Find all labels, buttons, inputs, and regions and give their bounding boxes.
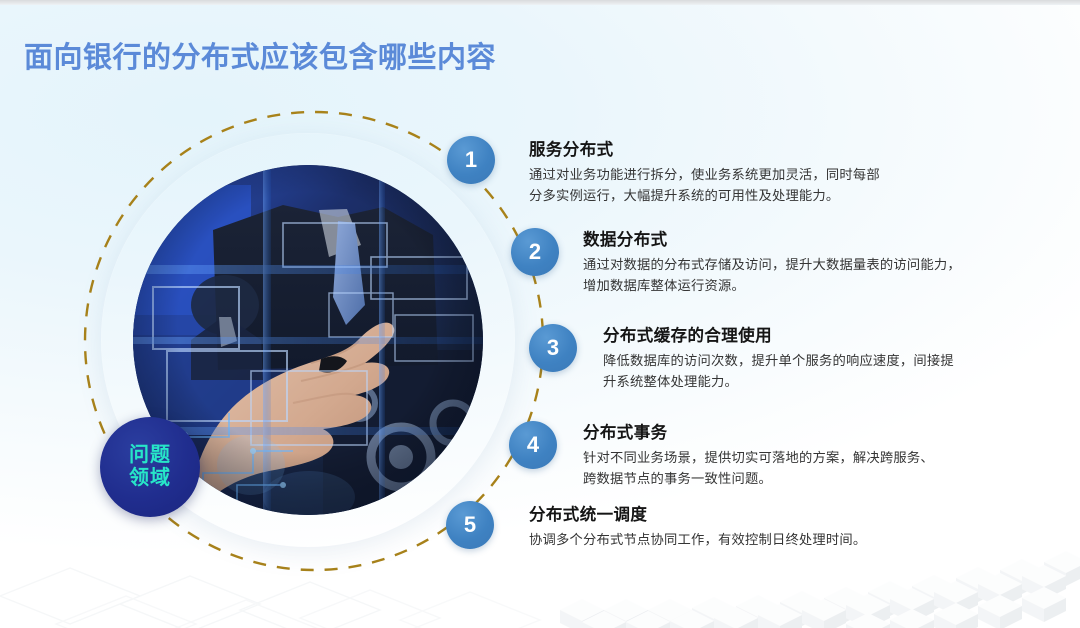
badge-line-1: 问题 bbox=[129, 444, 171, 467]
item-2-title: 数据分布式 bbox=[583, 229, 1003, 251]
item-2[interactable]: 数据分布式 通过对数据的分布式存储及访问，提升大数据量表的访问能力， 增加数据库… bbox=[583, 229, 1003, 296]
item-number-1-label: 1 bbox=[465, 147, 477, 173]
item-1-title: 服务分布式 bbox=[529, 139, 969, 161]
item-1-desc: 通过对业务功能进行拆分，使业务系统更加灵活，同时每部 分多实例运行，大幅提升系统… bbox=[529, 164, 969, 206]
problem-domain-badge: 问题 领域 bbox=[100, 417, 200, 517]
item-number-1[interactable]: 1 bbox=[447, 136, 495, 184]
item-number-4[interactable]: 4 bbox=[509, 421, 557, 469]
item-number-2-label: 2 bbox=[529, 239, 541, 265]
item-number-3-label: 3 bbox=[547, 335, 559, 361]
item-2-desc: 通过对数据的分布式存储及访问，提升大数据量表的访问能力， 增加数据库整体运行资源… bbox=[583, 254, 1003, 296]
item-4[interactable]: 分布式事务 针对不同业务场景，提供切实可落地的方案，解决跨服务、 跨数据节点的事… bbox=[583, 422, 1003, 489]
item-1[interactable]: 服务分布式 通过对业务功能进行拆分，使业务系统更加灵活，同时每部 分多实例运行，… bbox=[529, 139, 969, 206]
item-5-desc: 协调多个分布式节点协同工作，有效控制日终处理时间。 bbox=[529, 529, 969, 550]
item-3-desc: 降低数据库的访问次数，提升单个服务的响应速度，间接提 升系统整体处理能力。 bbox=[603, 350, 1003, 392]
item-number-4-label: 4 bbox=[527, 432, 539, 458]
item-3-title: 分布式缓存的合理使用 bbox=[603, 325, 1003, 347]
badge-line-2: 领域 bbox=[129, 467, 171, 490]
item-5-title: 分布式统一调度 bbox=[529, 504, 969, 526]
item-number-2[interactable]: 2 bbox=[511, 228, 559, 276]
item-4-title: 分布式事务 bbox=[583, 422, 1003, 444]
item-5[interactable]: 分布式统一调度 协调多个分布式节点协同工作，有效控制日终处理时间。 bbox=[529, 504, 969, 550]
item-4-desc: 针对不同业务场景，提供切实可落地的方案，解决跨服务、 跨数据节点的事务一致性问题… bbox=[583, 447, 1003, 489]
slide-canvas: 面向银行的分布式应该包含哪些内容 bbox=[0, 0, 1080, 628]
item-number-5-label: 5 bbox=[464, 512, 476, 538]
page-title: 面向银行的分布式应该包含哪些内容 bbox=[24, 34, 496, 76]
item-3[interactable]: 分布式缓存的合理使用 降低数据库的访问次数，提升单个服务的响应速度，间接提 升系… bbox=[603, 325, 1003, 392]
top-strip bbox=[0, 0, 1080, 5]
item-number-3[interactable]: 3 bbox=[529, 324, 577, 372]
item-number-5[interactable]: 5 bbox=[446, 501, 494, 549]
